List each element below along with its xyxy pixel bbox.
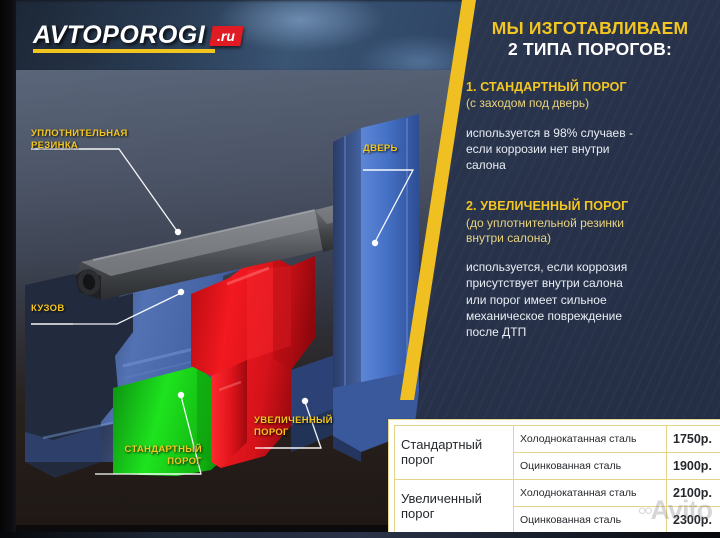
- ad-banner: УПЛОТНИТЕЛЬНАЯ РЕЗИНКА КУЗОВ ДВЕРЬ СТАНД…: [0, 0, 720, 538]
- cell-price: 1900р.: [667, 453, 720, 480]
- cell-sill-type: Стандартный порог: [395, 426, 514, 480]
- section-subtitle: (до уплотнительной резинки внутри салона…: [466, 216, 714, 246]
- section-extended-sill: 2. УВЕЛИЧЕННЫЙ ПОРОГ (до уплотнительной …: [466, 199, 714, 340]
- cell-material: Холоднокатанная сталь: [514, 480, 667, 507]
- section-title: 1. СТАНДАРТНЫЙ ПОРОГ: [466, 80, 714, 96]
- cell-price: 2300р.: [667, 507, 720, 534]
- callout-label-standard-sill: СТАНДАРТНЫЙ ПОРОГ: [92, 444, 202, 468]
- left-edge-shadow: [0, 0, 16, 538]
- brand-logo-tld-badge: .ru: [209, 26, 243, 46]
- section-subtitle: (с заходом под дверь): [466, 96, 714, 111]
- section-body: используется в 98% случаев - если корроз…: [466, 125, 714, 174]
- brand-logo-text: AVTOPOROGI: [33, 23, 205, 48]
- page-title: МЫ ИЗГОТАВЛИВАЕМ 2 ТИПА ПОРОГОВ:: [466, 18, 714, 61]
- section-body: используется, если коррозия присутствует…: [466, 259, 714, 340]
- brand-logo-tld-text: .ru: [217, 29, 235, 43]
- brand-logo[interactable]: AVTOPOROGI .ru: [33, 23, 242, 48]
- table-row: Стандартный порог Холоднокатанная сталь …: [395, 426, 720, 453]
- callout-label-body: КУЗОВ: [31, 303, 65, 315]
- price-table: Стандартный порог Холоднокатанная сталь …: [388, 419, 720, 538]
- bottom-bar: [0, 532, 720, 538]
- callout-label-door: ДВЕРЬ: [363, 143, 398, 155]
- callout-label-extended-sill: УВЕЛИЧЕННЫЙ ПОРОГ: [254, 415, 333, 439]
- headline-line-2: 2 ТИПА ПОРОГОВ:: [466, 39, 714, 60]
- headline-line-1: МЫ ИЗГОТАВЛИВАЕМ: [466, 18, 714, 39]
- cell-material: Холоднокатанная сталь: [514, 426, 667, 453]
- section-standard-sill: 1. СТАНДАРТНЫЙ ПОРОГ (с заходом под двер…: [466, 80, 714, 173]
- cell-sill-type: Увеличенный порог: [395, 480, 514, 534]
- cell-material: Оцинкованная сталь: [514, 453, 667, 480]
- section-title: 2. УВЕЛИЧЕННЫЙ ПОРОГ: [466, 199, 714, 215]
- callout-label-seal: УПЛОТНИТЕЛЬНАЯ РЕЗИНКА: [31, 128, 128, 152]
- cell-price: 2100р.: [667, 480, 720, 507]
- brand-logo-underline: [33, 49, 215, 53]
- table-row: Увеличенный порог Холоднокатанная сталь …: [395, 480, 720, 507]
- cell-material: Оцинкованная сталь: [514, 507, 667, 534]
- cell-price: 1750р.: [667, 426, 720, 453]
- info-content: МЫ ИЗГОТАВЛИВАЕМ 2 ТИПА ПОРОГОВ: 1. СТАН…: [466, 18, 714, 340]
